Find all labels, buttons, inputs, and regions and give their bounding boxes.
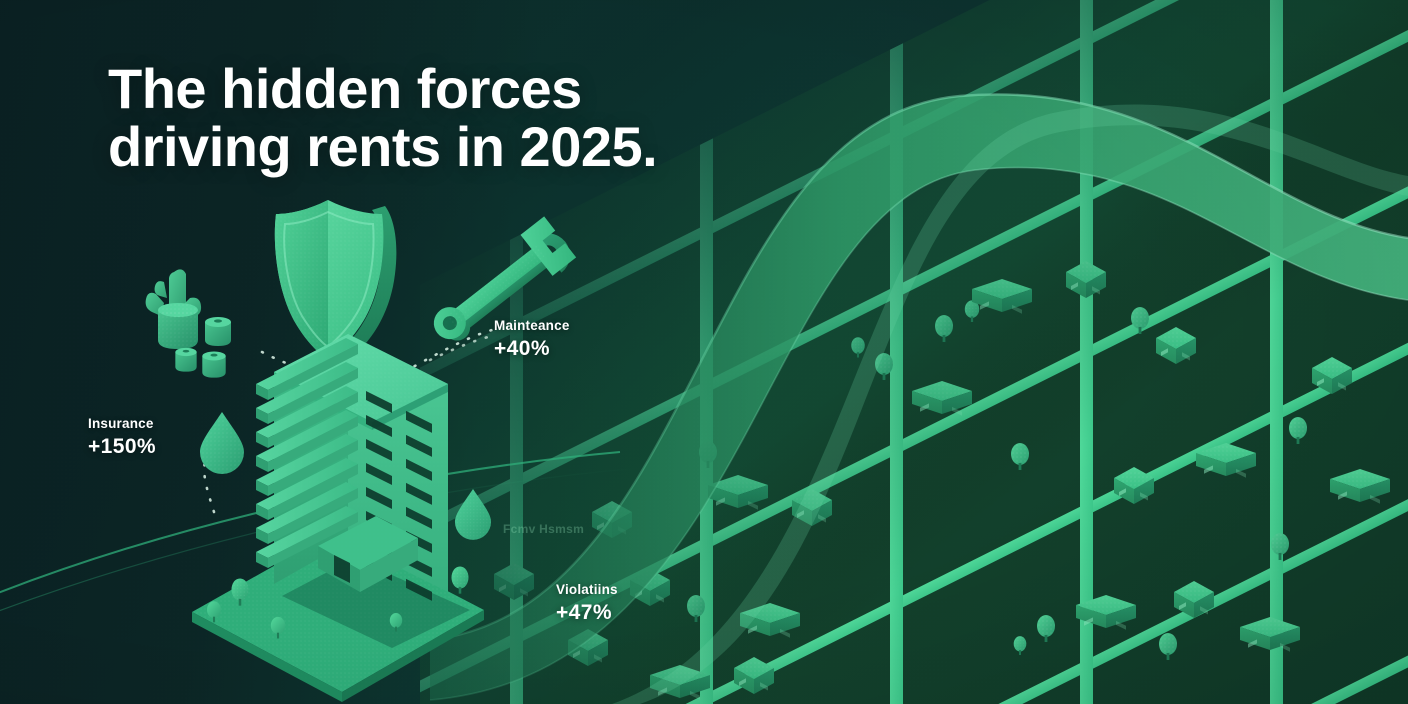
- callout-maintenance-value: +40%: [494, 336, 570, 362]
- callout-insurance-value: +150%: [88, 434, 156, 460]
- callout-violations-value: +47%: [556, 600, 618, 626]
- infographic-canvas: The hidden forces driving rents in 2025.…: [0, 0, 1408, 704]
- callout-insurance: Insurance +150%: [88, 416, 156, 460]
- callout-insurance-title: Insurance: [88, 416, 156, 433]
- faint-ghost-label: Fcmv Hsmsm: [503, 522, 584, 536]
- callout-violations: Violatiins +47%: [556, 582, 618, 626]
- callout-violations-title: Violatiins: [556, 582, 618, 599]
- page-title: The hidden forces driving rents in 2025.: [108, 60, 748, 176]
- callout-maintenance-title: Mainteance: [494, 318, 570, 335]
- callout-maintenance: Mainteance +40%: [494, 318, 570, 362]
